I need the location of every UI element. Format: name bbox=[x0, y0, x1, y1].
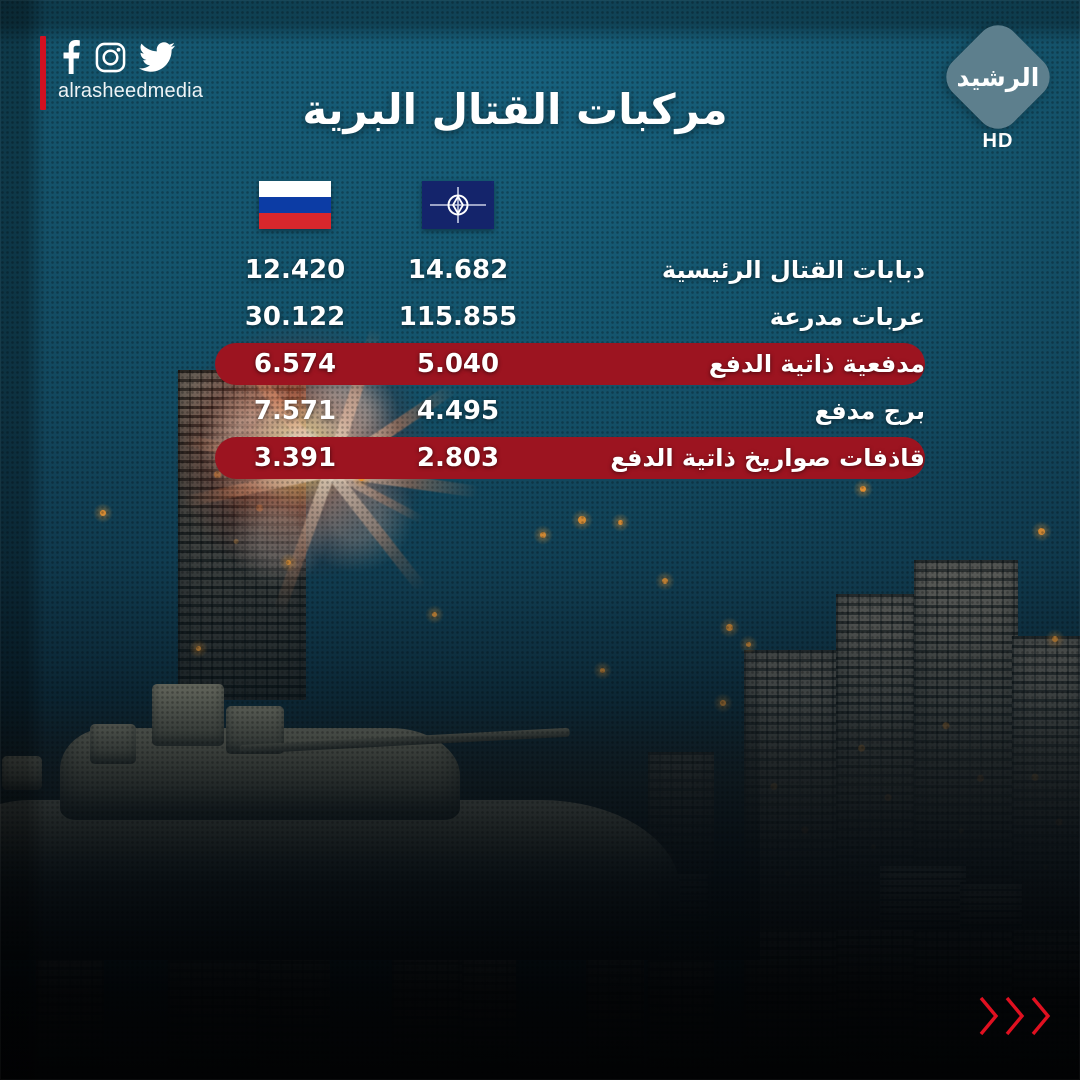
row-value-nato: 4.495 bbox=[393, 388, 523, 435]
table-header-flags bbox=[0, 175, 1080, 247]
twitter-icon[interactable] bbox=[139, 42, 175, 72]
row-value-russia: 6.574 bbox=[230, 341, 360, 388]
nato-flag-cell bbox=[422, 181, 494, 229]
row-label: قاذفات صواريخ ذاتية الدفع bbox=[580, 435, 925, 482]
logo-hd-badge: HD bbox=[944, 130, 1052, 153]
logo-script-text: الرشيد bbox=[957, 65, 1040, 90]
comparison-table: دبابات القتال الرئيسية 14.682 12.420 عرب… bbox=[0, 175, 1080, 482]
table-rows: دبابات القتال الرئيسية 14.682 12.420 عرب… bbox=[0, 247, 1080, 482]
facebook-icon[interactable] bbox=[58, 40, 82, 74]
russia-flag bbox=[259, 181, 331, 229]
social-handle-text: alrasheedmedia bbox=[58, 81, 203, 101]
row-label: عربات مدرعة bbox=[580, 294, 925, 341]
row-value-nato: 14.682 bbox=[393, 247, 523, 294]
social-handle-block: alrasheedmedia bbox=[40, 36, 203, 110]
row-value-russia: 30.122 bbox=[230, 294, 360, 341]
table-row[interactable]: قاذفات صواريخ ذاتية الدفع 2.803 3.391 bbox=[0, 435, 1080, 482]
chevron-right-icon bbox=[978, 994, 1000, 1038]
chevron-right-icon bbox=[1004, 994, 1026, 1038]
russia-flag-cell bbox=[259, 181, 331, 229]
page-title: مركبات القتال البرية bbox=[280, 86, 750, 134]
table-row[interactable]: مدفعية ذاتية الدفع 5.040 6.574 bbox=[0, 341, 1080, 388]
row-value-russia: 7.571 bbox=[230, 388, 360, 435]
row-value-russia: 3.391 bbox=[230, 435, 360, 482]
instagram-icon[interactable] bbox=[95, 42, 126, 73]
infographic-canvas: alrasheedmedia مركبات القتال البرية الرش… bbox=[0, 0, 1080, 1080]
channel-logo: الرشيد HD bbox=[944, 34, 1052, 153]
row-value-nato: 115.855 bbox=[393, 294, 523, 341]
table-row[interactable]: برج مدفع 4.495 7.571 bbox=[0, 388, 1080, 435]
row-label: مدفعية ذاتية الدفع bbox=[580, 341, 925, 388]
nato-flag bbox=[422, 181, 494, 229]
accent-bar bbox=[40, 36, 46, 110]
background-texture bbox=[0, 0, 1080, 1080]
table-row[interactable]: دبابات القتال الرئيسية 14.682 12.420 bbox=[0, 247, 1080, 294]
row-label: دبابات القتال الرئيسية bbox=[580, 247, 925, 294]
chevron-arrows[interactable] bbox=[978, 994, 1052, 1038]
row-value-nato: 2.803 bbox=[393, 435, 523, 482]
nato-compass-icon bbox=[422, 181, 494, 229]
row-value-russia: 12.420 bbox=[230, 247, 360, 294]
chevron-right-icon bbox=[1030, 994, 1052, 1038]
logo-diamond-shape: الرشيد bbox=[937, 16, 1059, 138]
social-icons bbox=[58, 36, 203, 78]
table-row[interactable]: عربات مدرعة 115.855 30.122 bbox=[0, 294, 1080, 341]
row-value-nato: 5.040 bbox=[393, 341, 523, 388]
row-label: برج مدفع bbox=[580, 388, 925, 435]
